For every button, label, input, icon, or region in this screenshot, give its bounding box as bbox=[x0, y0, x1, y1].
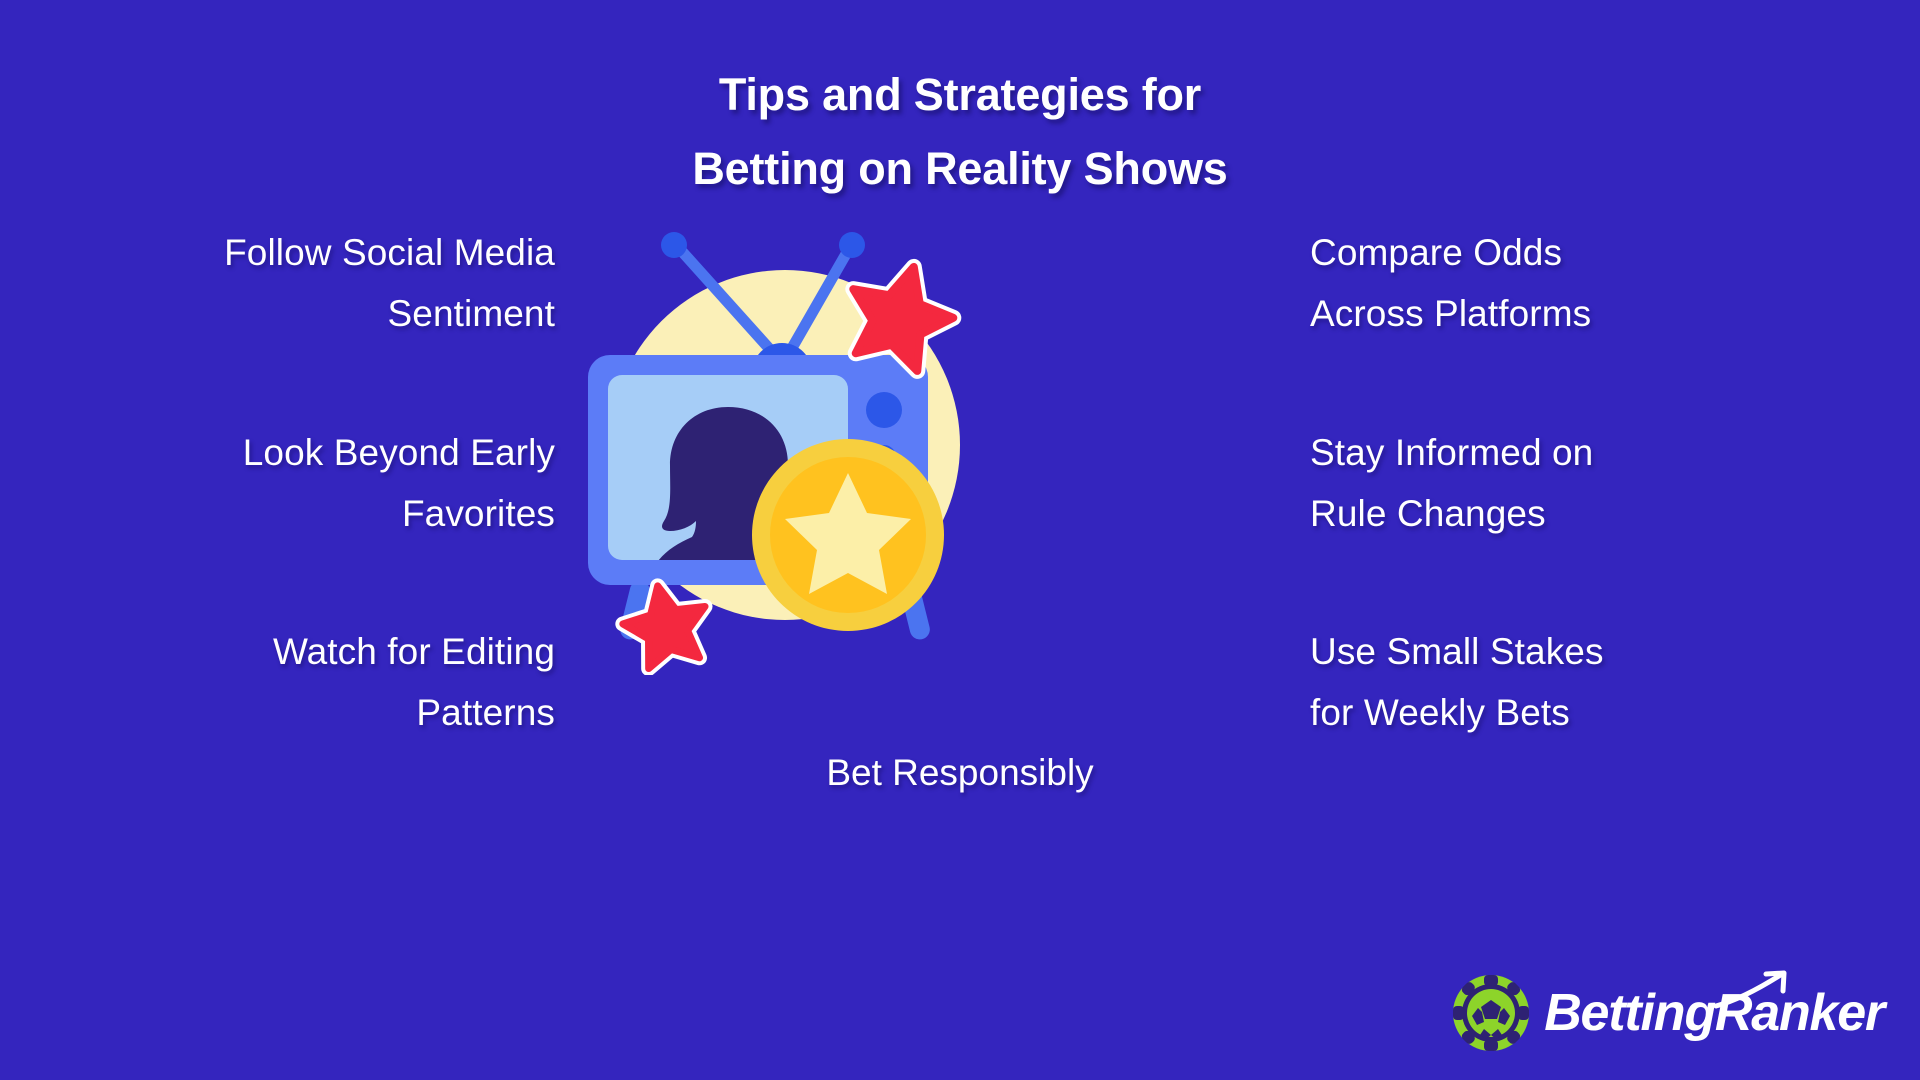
brand-logo[interactable]: BettingRanker bbox=[1452, 974, 1884, 1052]
tip-left-2-line-2: Favorites bbox=[243, 483, 555, 544]
tip-right-3-line-1: Use Small Stakes bbox=[1310, 621, 1604, 682]
tip-left-3-line-2: Patterns bbox=[273, 682, 555, 743]
tip-right-2-line-1: Stay Informed on bbox=[1310, 422, 1593, 483]
tip-right-2-line-2: Rule Changes bbox=[1310, 483, 1593, 544]
tip-left-3-line-1: Watch for Editing bbox=[273, 621, 555, 682]
title-line-1: Tips and Strategies for bbox=[0, 58, 1920, 132]
tip-right-3: Use Small Stakes for Weekly Bets bbox=[1310, 621, 1604, 743]
tip-left-1-line-1: Follow Social Media bbox=[224, 222, 555, 283]
tip-left-3: Watch for Editing Patterns bbox=[273, 621, 555, 743]
green-poker-chip-icon bbox=[1452, 974, 1530, 1052]
tip-left-2: Look Beyond Early Favorites bbox=[243, 422, 555, 544]
tip-right-3-line-2: for Weekly Bets bbox=[1310, 682, 1604, 743]
tip-left-2-line-1: Look Beyond Early bbox=[243, 422, 555, 483]
infographic-canvas: Tips and Strategies for Betting on Reali… bbox=[0, 0, 1920, 1080]
brand-name: BettingRanker bbox=[1544, 987, 1884, 1039]
tip-right-1: Compare Odds Across Platforms bbox=[1310, 222, 1591, 344]
title-line-2: Betting on Reality Shows bbox=[0, 132, 1920, 206]
retro-tv-illustration bbox=[570, 225, 1010, 675]
bet-responsibly-note: Bet Responsibly bbox=[0, 742, 1920, 803]
tip-left-1-line-2: Sentiment bbox=[224, 283, 555, 344]
brand-name-text: BettingRanker bbox=[1544, 984, 1884, 1042]
tip-right-1-line-1: Compare Odds bbox=[1310, 222, 1591, 283]
tip-right-2: Stay Informed on Rule Changes bbox=[1310, 422, 1593, 544]
page-title: Tips and Strategies for Betting on Reali… bbox=[0, 58, 1920, 206]
tip-left-1: Follow Social Media Sentiment bbox=[224, 222, 555, 344]
gold-coin-star-icon bbox=[752, 439, 944, 631]
tip-right-1-line-2: Across Platforms bbox=[1310, 283, 1591, 344]
